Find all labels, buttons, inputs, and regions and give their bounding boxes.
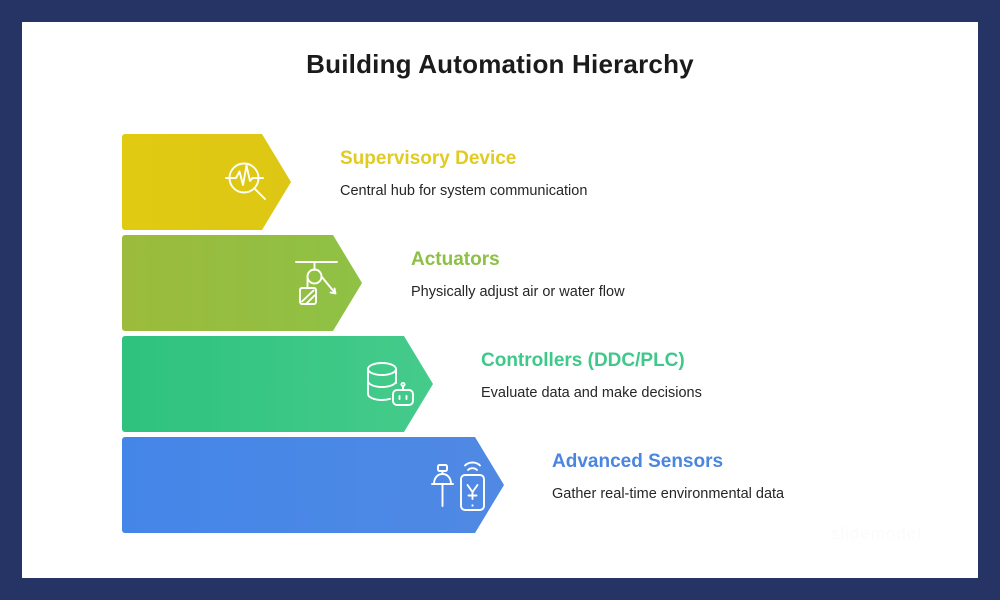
level-2-heading: Actuators bbox=[411, 249, 625, 272]
chevron-shape-4 bbox=[122, 437, 534, 533]
hierarchy-level-4[interactable]: Advanced Sensors Gather real-time enviro… bbox=[122, 437, 534, 533]
chevron-shape-1 bbox=[122, 134, 322, 230]
level-4-description: Gather real-time environmental data bbox=[552, 485, 784, 504]
level-3-text: Controllers (DDC/PLC) Evaluate data and … bbox=[481, 350, 702, 403]
hierarchy-level-2[interactable]: Actuators Physically adjust air or water… bbox=[122, 235, 392, 331]
level-1-description: Central hub for system communication bbox=[340, 182, 587, 201]
chevron-shape-3 bbox=[122, 336, 462, 432]
level-1-heading: Supervisory Device bbox=[340, 148, 587, 171]
hierarchy-level-3[interactable]: Controllers (DDC/PLC) Evaluate data and … bbox=[122, 336, 462, 432]
level-2-text: Actuators Physically adjust air or water… bbox=[411, 249, 625, 302]
level-3-description: Evaluate data and make decisions bbox=[481, 384, 702, 403]
slide-canvas: Building Automation Hierarchy bbox=[22, 22, 978, 578]
level-4-text: Advanced Sensors Gather real-time enviro… bbox=[552, 451, 784, 504]
hierarchy-level-1[interactable]: Supervisory Device Central hub for syste… bbox=[122, 134, 322, 230]
level-1-text: Supervisory Device Central hub for syste… bbox=[340, 148, 587, 201]
chevron-shape-2 bbox=[122, 235, 392, 331]
watermark: slidemodel bbox=[831, 524, 922, 544]
level-2-description: Physically adjust air or water flow bbox=[411, 283, 625, 302]
level-3-heading: Controllers (DDC/PLC) bbox=[481, 350, 702, 373]
hierarchy-chevron-chart: Supervisory Device Central hub for syste… bbox=[22, 22, 978, 578]
level-4-heading: Advanced Sensors bbox=[552, 451, 784, 474]
